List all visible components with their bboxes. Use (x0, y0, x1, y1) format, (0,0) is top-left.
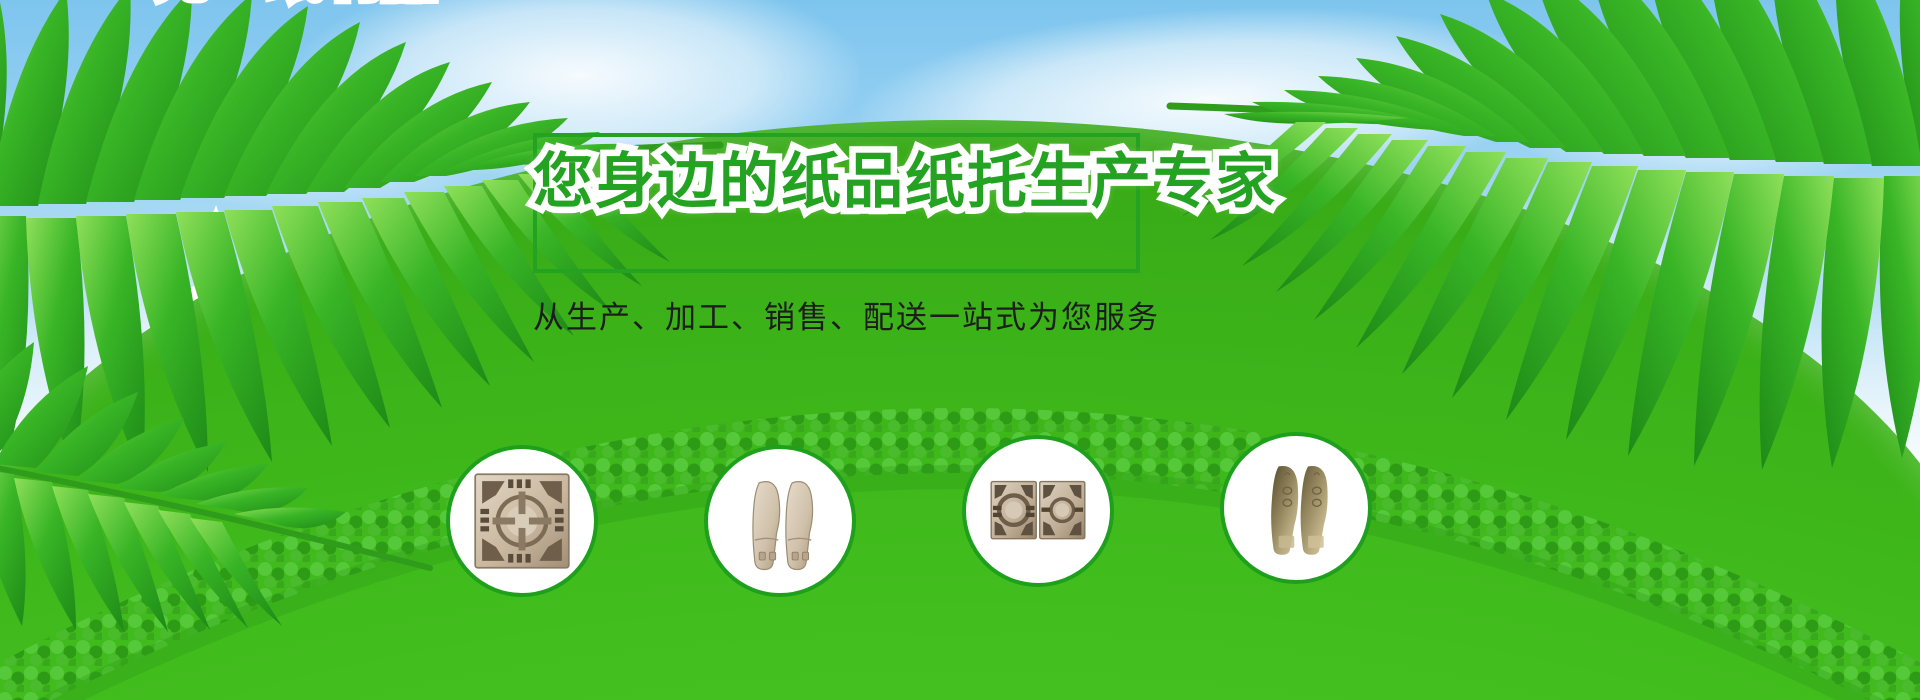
product-circle-3[interactable] (962, 435, 1114, 587)
molded-pulp-double-tray-icon (986, 459, 1090, 563)
brand-name: 元一纸制品 (140, 0, 453, 2)
brand-name-text: 元一纸制品 (140, 0, 453, 2)
cloud-decor (1500, 30, 1920, 190)
product-circle-4[interactable] (1220, 432, 1372, 584)
page-title: 您身边的纸品纸托生产专家 (533, 152, 1153, 212)
banner-subtitle: 从生产、加工、销售、配送一站式为您服务 (533, 292, 1153, 337)
cloud-decor (120, 90, 500, 210)
promo-banner: 元一纸制品 您身边的纸品纸托生产专家 从生产、加工、销售、配送一站式为您服务 (0, 0, 1920, 700)
molded-pulp-square-tray-icon (470, 469, 574, 573)
molded-pulp-shoe-tree-pair-icon (728, 469, 832, 573)
product-circle-2[interactable] (704, 445, 856, 597)
product-circle-1[interactable] (446, 445, 598, 597)
molded-pulp-shoe-insert-pair-icon (1244, 456, 1348, 560)
